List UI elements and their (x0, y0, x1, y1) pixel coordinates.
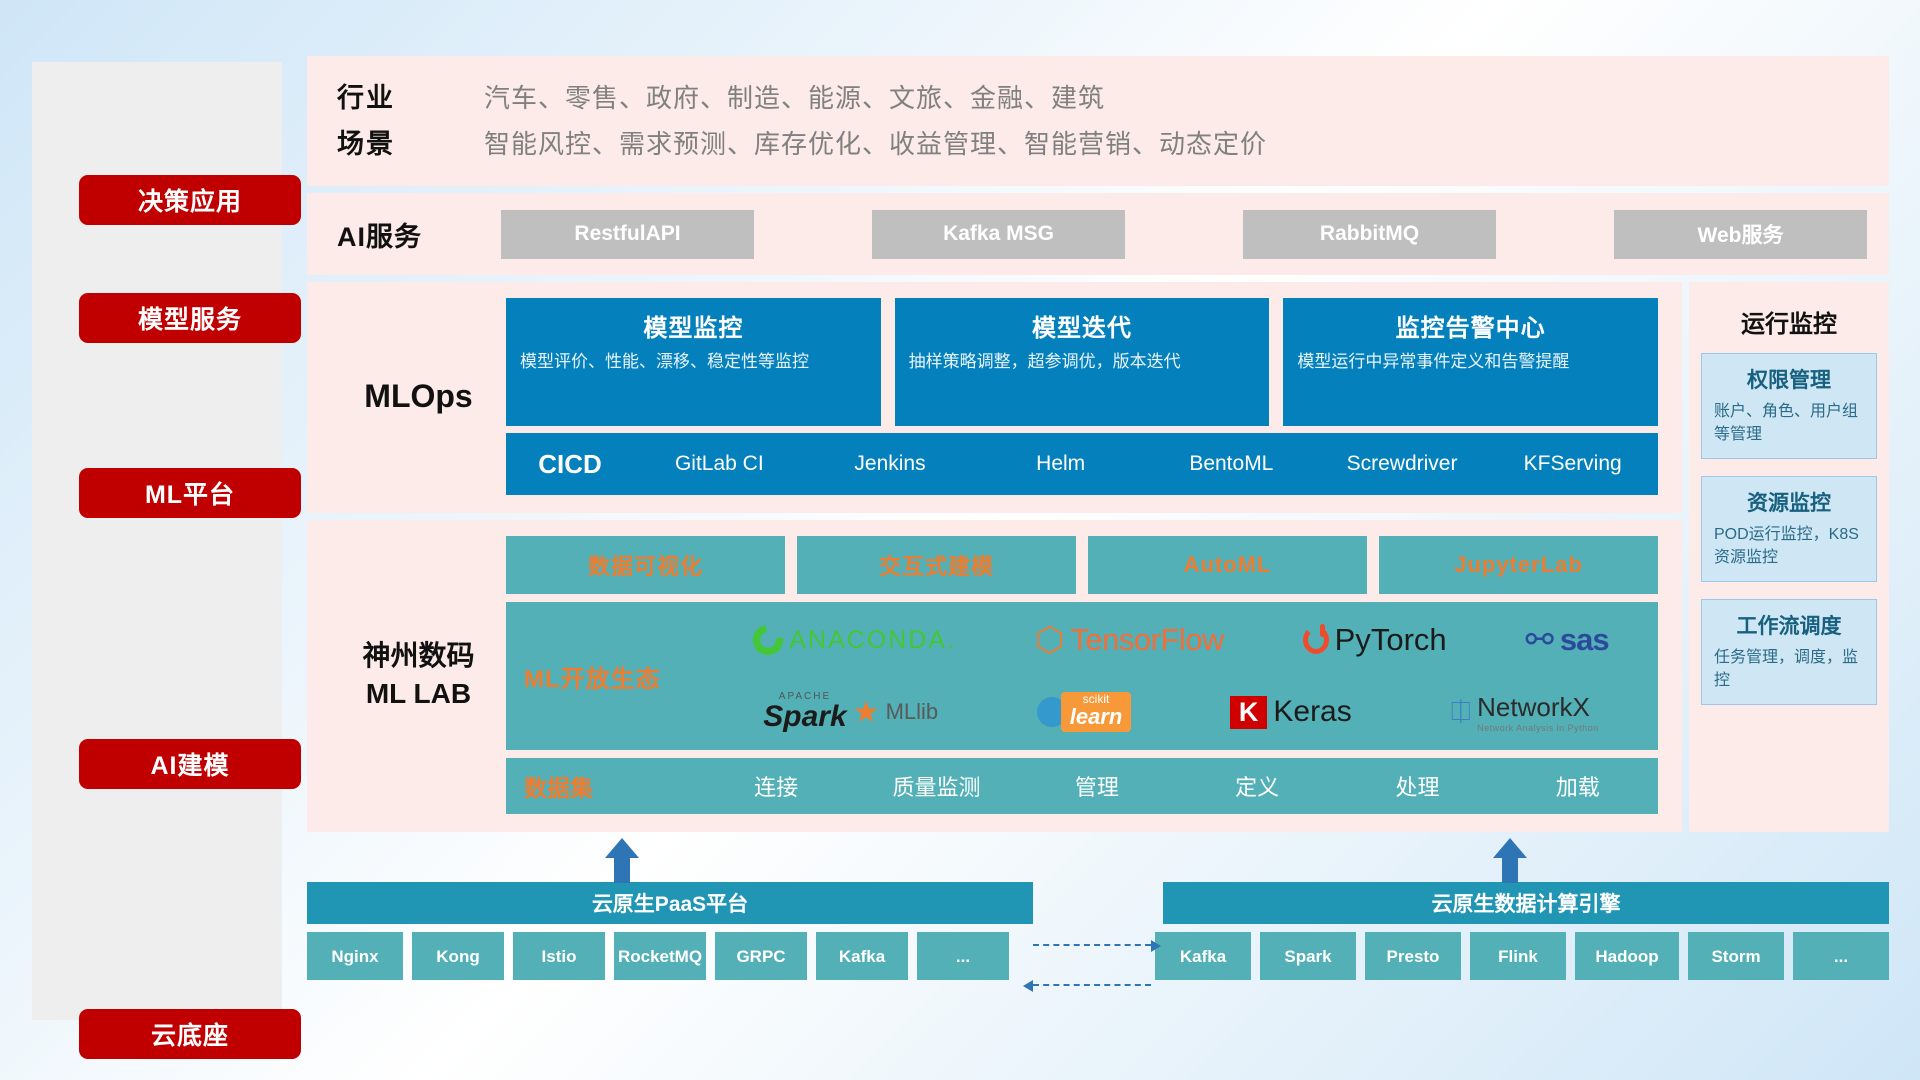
tensorflow-mark-icon: ⬡ (1035, 623, 1065, 657)
scikit-learn-logo: scikit learn (1037, 692, 1132, 732)
mlops-card-model-iteration[interactable]: 模型迭代 抽样策略调整，超参调优，版本迭代 (895, 298, 1270, 426)
dataset-item-process[interactable]: 处理 (1337, 770, 1497, 802)
mlops-cards: 模型监控 模型评价、性能、漂移、稳定性等监控 模型迭代 抽样策略调整，超参调优，… (506, 298, 1658, 426)
rail-badge-model-service[interactable]: 模型服务 (79, 293, 301, 343)
tag-istio[interactable]: Istio (513, 932, 605, 980)
scikit-bottom-label: learn (1070, 704, 1123, 729)
ml-lab-title-line1: 神州数码 (362, 640, 474, 671)
dataset-item-connect[interactable]: 连接 (696, 770, 856, 802)
networkx-label: NetworkX (1477, 692, 1590, 722)
monitoring-card-workflow[interactable]: 工作流调度 任务管理，调度，监控 (1701, 599, 1877, 705)
monitoring-card-desc: 任务管理，调度，监控 (1714, 646, 1864, 692)
anaconda-ring-icon (747, 619, 789, 661)
ml-lab-body: 数据可视化 交互式建模 AutoML JupyterLab ML开放生态 (506, 536, 1658, 814)
tag-more-paas[interactable]: ... (917, 932, 1009, 980)
industry-label: 行业 (337, 75, 462, 121)
networkx-logo: ⎅ NetworkX Network Analysis in Python (1450, 692, 1598, 733)
monitoring-card-desc: 账户、角色、用户组等管理 (1714, 400, 1864, 446)
monitoring-card-resources[interactable]: 资源监控 POD运行监控，K8S资源监控 (1701, 476, 1877, 582)
ml-lab-title: 神州数码 ML LAB (362, 637, 474, 713)
tag-more-engine[interactable]: ... (1793, 932, 1889, 980)
cicd-items: GitLab CI Jenkins Helm BentoML Screwdriv… (634, 450, 1658, 478)
industry-value: 汽车、零售、政府、制造、能源、文旅、金融、建筑 (484, 75, 1267, 121)
monitoring-title: 运行监控 (1701, 304, 1877, 339)
networkx-graph-icon: ⎅ (1450, 696, 1471, 728)
dataset-items: 连接 质量监测 管理 定义 处理 加载 (696, 770, 1658, 802)
arrow-up-left (605, 838, 639, 882)
ml-lab-title-wrap: 神州数码 ML LAB (331, 536, 506, 814)
mlops-title: MLOps (364, 378, 472, 415)
ml-lab-title-line2: ML LAB (366, 678, 471, 709)
dataset-item-define[interactable]: 定义 (1177, 770, 1337, 802)
networkx-sublabel: Network Analysis in Python (1477, 723, 1599, 733)
sas-label: sas (1560, 622, 1609, 658)
ml-ecosystem-logos: ANACONDA. ⬡ TensorFlow PyTorch (714, 606, 1648, 746)
spark-wordmark: Spark (763, 702, 846, 732)
card-body: 抽样策略调整，超参调优，版本迭代 (909, 349, 1256, 374)
ml-lab-tools: 数据可视化 交互式建模 AutoML JupyterLab (506, 536, 1658, 594)
card-heading: 模型迭代 (909, 308, 1256, 343)
scikit-card: scikit learn (1061, 692, 1132, 732)
monitoring-card-desc: POD运行监控，K8S资源监控 (1714, 523, 1864, 569)
tool-data-visualization[interactable]: 数据可视化 (506, 536, 785, 594)
keras-k-icon: K (1230, 696, 1268, 729)
tag-spark[interactable]: Spark (1260, 932, 1356, 980)
dataset-item-load[interactable]: 加载 (1498, 770, 1658, 802)
scenario-value: 智能风控、需求预测、库存优化、收益管理、智能营销、动态定价 (484, 121, 1267, 167)
engine-tags: Kafka Spark Presto Flink Hadoop Storm ..… (1155, 932, 1889, 980)
mllib-label: MLlib (886, 699, 939, 725)
logo-row-2: APACHE Spark ★ MLlib (714, 678, 1648, 746)
tool-jupyterlab[interactable]: JupyterLab (1379, 536, 1658, 594)
anaconda-label: ANACONDA. (789, 626, 956, 655)
dataset-row: 数据集 连接 质量监测 管理 定义 处理 加载 (506, 758, 1658, 814)
platform-stack: MLOps 模型监控 模型评价、性能、漂移、稳定性等监控 模型迭代 抽样策略调整… (307, 282, 1682, 832)
cicd-row: CICD GitLab CI Jenkins Helm BentoML Scre… (506, 433, 1658, 495)
ml-ecosystem-row: ML开放生态 ANACONDA. ⬡ TensorFlow (506, 602, 1658, 750)
monitoring-card-title: 权限管理 (1714, 364, 1864, 394)
cloud-bars: 云原生PaaS平台 云原生数据计算引擎 (307, 882, 1889, 924)
sas-swirl-icon: ⚯ (1525, 620, 1554, 660)
card-body: 模型评价、性能、漂移、稳定性等监控 (520, 349, 867, 374)
platform-and-monitoring: MLOps 模型监控 模型评价、性能、漂移、稳定性等监控 模型迭代 抽样策略调整… (307, 282, 1889, 832)
layer-rail: 决策应用 模型服务 ML平台 AI建模 云底座 (32, 62, 282, 1020)
ai-service-band: AI服务 RestfulAPI Kafka MSG RabbitMQ Web服务 (307, 193, 1889, 275)
mlops-title-wrap: MLOps (331, 298, 506, 495)
decision-values: 汽车、零售、政府、制造、能源、文旅、金融、建筑 智能风控、需求预测、库存优化、收… (484, 75, 1267, 167)
keras-logo: K Keras (1230, 695, 1352, 729)
ai-service-chip-rabbitmq[interactable]: RabbitMQ (1243, 210, 1496, 259)
ai-service-chip-restfulapi[interactable]: RestfulAPI (501, 210, 754, 259)
tag-kafka-paas[interactable]: Kafka (816, 932, 908, 980)
tag-kafka-engine[interactable]: Kafka (1155, 932, 1251, 980)
card-heading: 监控告警中心 (1297, 308, 1644, 343)
monitoring-card-title: 资源监控 (1714, 487, 1864, 517)
cloud-link-arrows (1033, 938, 1163, 1000)
ai-service-chip-web[interactable]: Web服务 (1614, 210, 1867, 259)
cicd-label: CICD (506, 449, 634, 480)
logo-row-1: ANACONDA. ⬡ TensorFlow PyTorch (714, 606, 1648, 674)
spark-star-icon: ★ (853, 695, 880, 730)
pytorch-logo: PyTorch (1303, 622, 1447, 658)
sas-logo: ⚯ sas (1525, 620, 1608, 660)
keras-label: Keras (1273, 695, 1351, 729)
cicd-item-screwdriver[interactable]: Screwdriver (1317, 450, 1488, 478)
dashed-arrow-right (1033, 944, 1151, 946)
tensorflow-logo: ⬡ TensorFlow (1035, 622, 1224, 658)
data-engine-bar[interactable]: 云原生数据计算引擎 (1163, 882, 1889, 924)
tag-rocketmq[interactable]: RocketMQ (614, 932, 706, 980)
tool-interactive-modeling[interactable]: 交互式建模 (797, 536, 1076, 594)
tool-automl[interactable]: AutoML (1088, 536, 1367, 594)
tag-flink[interactable]: Flink (1470, 932, 1566, 980)
monitoring-card-permissions[interactable]: 权限管理 账户、角色、用户组等管理 (1701, 353, 1877, 459)
cicd-item-helm[interactable]: Helm (975, 450, 1146, 478)
dashed-arrow-left (1033, 984, 1151, 986)
mlops-card-alert-center[interactable]: 监控告警中心 模型运行中异常事件定义和告警提醒 (1283, 298, 1658, 426)
cicd-item-bentoml[interactable]: BentoML (1146, 450, 1317, 478)
monitoring-panel: 运行监控 权限管理 账户、角色、用户组等管理 资源监控 POD运行监控，K8S资… (1689, 282, 1889, 832)
decision-labels: 行业 场景 (337, 75, 462, 167)
dataset-item-manage[interactable]: 管理 (1017, 770, 1177, 802)
card-heading: 模型监控 (520, 308, 867, 343)
tag-storm[interactable]: Storm (1688, 932, 1784, 980)
ml-ecosystem-label: ML开放生态 (524, 659, 714, 694)
rail-badge-cloud-base[interactable]: 云底座 (79, 1009, 301, 1059)
mlops-band: MLOps 模型监控 模型评价、性能、漂移、稳定性等监控 模型迭代 抽样策略调整… (307, 282, 1682, 513)
decision-application-band: 行业 场景 汽车、零售、政府、制造、能源、文旅、金融、建筑 智能风控、需求预测、… (307, 56, 1889, 186)
ai-service-chip-kafka-msg[interactable]: Kafka MSG (872, 210, 1125, 259)
rail-badge-decision[interactable]: 决策应用 (79, 175, 301, 225)
ai-service-chips: RestfulAPI Kafka MSG RabbitMQ Web服务 (501, 210, 1867, 259)
paas-platform-bar[interactable]: 云原生PaaS平台 (307, 882, 1033, 924)
paas-tags: Nginx Kong Istio RocketMQ GRPC Kafka ... (307, 932, 1009, 980)
cloud-base-section: 云原生PaaS平台 云原生数据计算引擎 Nginx Kong Istio Roc… (307, 882, 1889, 1080)
pytorch-flame-icon (1303, 626, 1329, 654)
architecture-diagram: 决策应用 模型服务 ML平台 AI建模 云底座 行业 场景 汽车、零售、政府、制… (0, 0, 1920, 1080)
card-body: 模型运行中异常事件定义和告警提醒 (1297, 349, 1644, 374)
rail-badge-ml-platform[interactable]: ML平台 (79, 468, 301, 518)
dataset-label: 数据集 (506, 769, 696, 803)
dataset-item-quality[interactable]: 质量监测 (856, 770, 1016, 802)
spark-mllib-logo: APACHE Spark ★ MLlib (763, 692, 938, 732)
tag-grpc[interactable]: GRPC (715, 932, 807, 980)
cicd-item-kfserving[interactable]: KFServing (1487, 450, 1658, 478)
tag-hadoop[interactable]: Hadoop (1575, 932, 1679, 980)
rail-badge-ai-modeling[interactable]: AI建模 (79, 739, 301, 789)
cicd-item-jenkins[interactable]: Jenkins (805, 450, 976, 478)
ai-service-title: AI服务 (337, 215, 487, 254)
main-column: 行业 场景 汽车、零售、政府、制造、能源、文旅、金融、建筑 智能风控、需求预测、… (307, 56, 1889, 832)
monitoring-card-title: 工作流调度 (1714, 610, 1864, 640)
tag-presto[interactable]: Presto (1365, 932, 1461, 980)
anaconda-logo: ANACONDA. (753, 625, 956, 655)
cicd-item-gitlab-ci[interactable]: GitLab CI (634, 450, 805, 478)
scenario-label: 场景 (337, 121, 462, 167)
tag-nginx[interactable]: Nginx (307, 932, 403, 980)
mlops-card-model-monitoring[interactable]: 模型监控 模型评价、性能、漂移、稳定性等监控 (506, 298, 881, 426)
arrow-up-right (1493, 838, 1527, 882)
pytorch-label: PyTorch (1335, 622, 1447, 658)
ml-lab-band: 神州数码 ML LAB 数据可视化 交互式建模 AutoML JupyterLa… (307, 520, 1682, 832)
tag-kong[interactable]: Kong (412, 932, 504, 980)
tensorflow-label: TensorFlow (1070, 622, 1224, 658)
mlops-body: 模型监控 模型评价、性能、漂移、稳定性等监控 模型迭代 抽样策略调整，超参调优，… (506, 298, 1658, 495)
